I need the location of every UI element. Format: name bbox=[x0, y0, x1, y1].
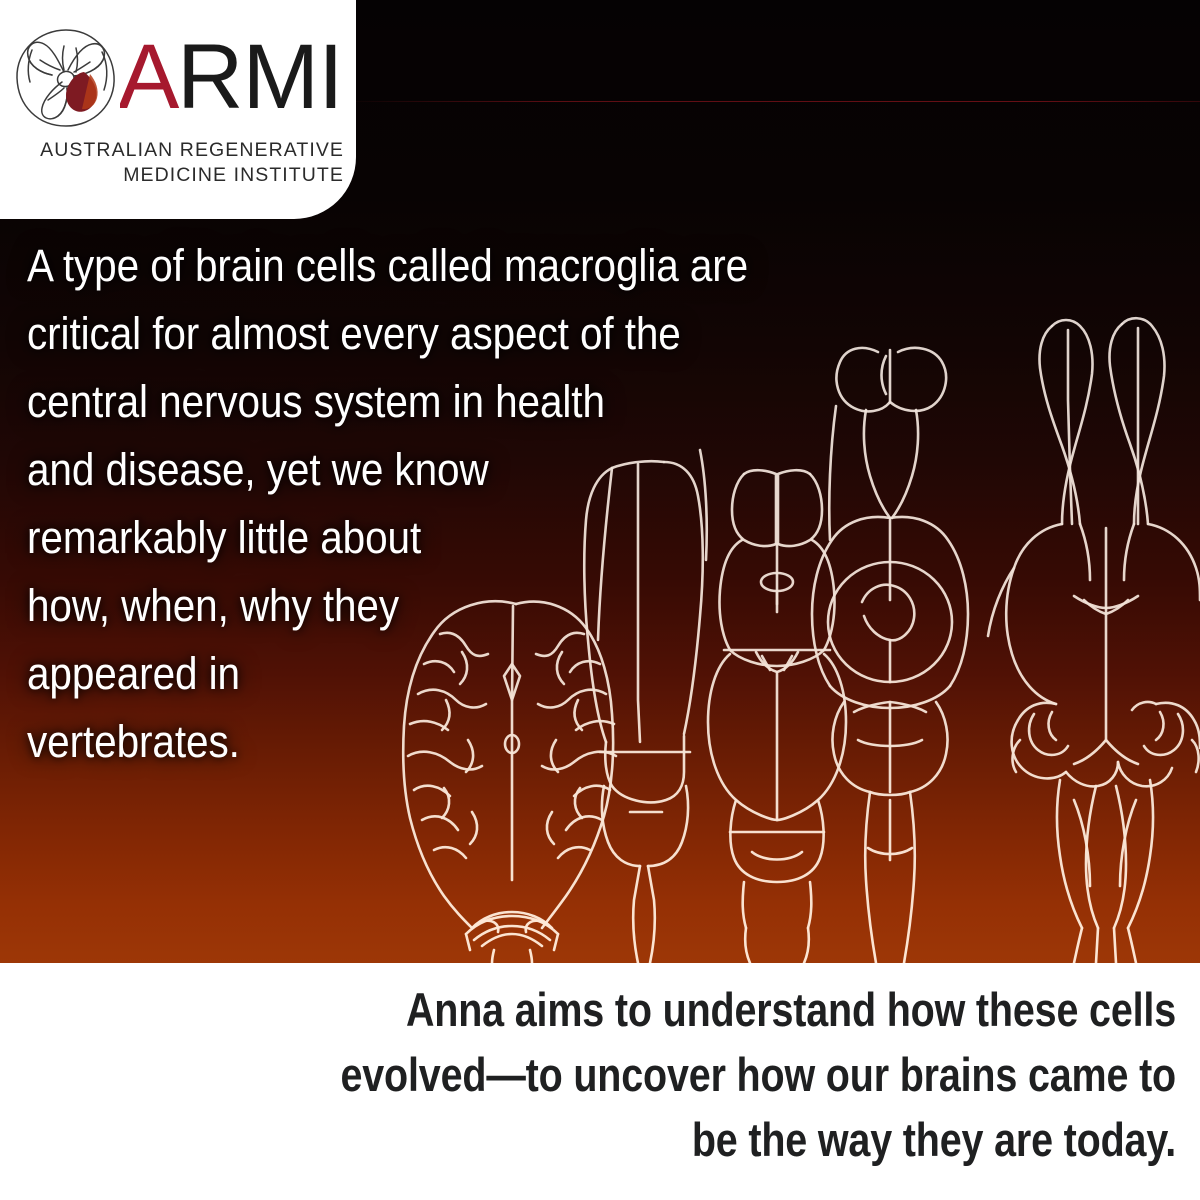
svg-text:RMI: RMI bbox=[177, 26, 343, 128]
svg-text:A: A bbox=[120, 26, 180, 128]
brain-fish-b bbox=[1006, 318, 1200, 963]
armi-subtitle: AUSTRALIAN REGENERATIVE MEDICINE INSTITU… bbox=[14, 138, 344, 187]
caption-bar: Anna aims to understand how these cells … bbox=[0, 963, 1200, 1200]
armi-logo-card[interactable]: A RMI AUSTRALIAN REGENERATIVE MEDICINE I… bbox=[0, 0, 356, 219]
armi-logo-lockup: A RMI bbox=[12, 24, 346, 132]
headline-quote: A type of brain cells called macroglia a… bbox=[27, 232, 837, 776]
caption-text: Anna aims to understand how these cells … bbox=[336, 977, 1176, 1172]
armi-wordmark: A RMI bbox=[120, 26, 346, 130]
poster-canvas: A type of brain cells called macroglia a… bbox=[0, 0, 1200, 1200]
armi-orchid-brain-icon bbox=[12, 26, 120, 130]
